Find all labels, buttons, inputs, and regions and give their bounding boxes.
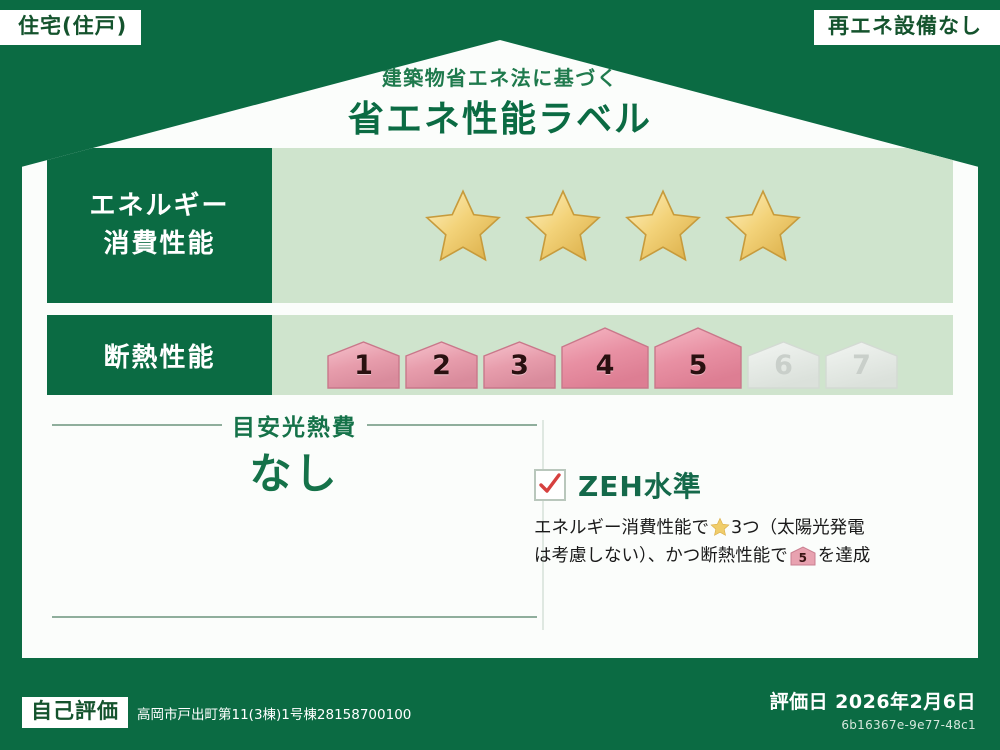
energy-performance-label: エネルギー 消費性能 <box>47 148 272 303</box>
label-card: 建築物省エネ法に基づく 省エネ性能ラベル エネルギー 消費性能 断熱性能 123… <box>22 40 978 658</box>
insulation-grade-7: 7 <box>825 341 898 389</box>
zeh-desc-part3: を達成 <box>818 546 871 566</box>
grade-number: 6 <box>747 350 820 381</box>
evaluation-id: 6b16367e-9e77-48c1 <box>770 718 976 732</box>
utility-cost-value: なし <box>52 440 537 501</box>
zeh-section: ZEH水準 エネルギー消費性能で 3つ（太陽光発電 は考慮しない）、かつ断熱性能… <box>534 465 954 571</box>
insulation-grade-1: 1 <box>327 341 400 389</box>
insulation-performance-value: 1234567 <box>272 315 953 395</box>
utility-cost-bottom-rule <box>52 616 537 618</box>
house-grade-icon: 5 <box>790 546 816 566</box>
insulation-grade-scale: 1234567 <box>327 315 898 395</box>
self-evaluation-block: 自己評価 高岡市戸出町第11(3棟)1号棟28158700100 <box>22 697 411 728</box>
grade-number: 4 <box>561 350 649 381</box>
energy-label-line1: エネルギー <box>89 188 229 226</box>
zeh-description: エネルギー消費性能で 3つ（太陽光発電 は考慮しない）、かつ断熱性能で 5 を達… <box>534 514 954 571</box>
house-grade-number: 5 <box>790 549 816 566</box>
insulation-performance-row: 断熱性能 1234567 <box>47 315 953 395</box>
tag-building-type: 住宅(住戸) <box>0 10 141 45</box>
zeh-checkbox[interactable] <box>534 469 566 501</box>
star-icon <box>724 187 802 265</box>
insulation-grade-2: 2 <box>405 341 478 389</box>
insulation-grade-5: 5 <box>654 327 742 389</box>
zeh-header: ZEH水準 <box>534 465 954 505</box>
insulation-grade-6: 6 <box>747 341 820 389</box>
zeh-desc-part1: エネルギー消費性能で <box>534 518 709 538</box>
star-icon <box>624 187 702 265</box>
grade-number: 2 <box>405 350 478 381</box>
footer: 自己評価 高岡市戸出町第11(3棟)1号棟28158700100 評価日 202… <box>0 658 1000 750</box>
grade-number: 1 <box>327 350 400 381</box>
grade-number: 3 <box>483 350 556 381</box>
utility-cost-title: 目安光熱費 <box>232 408 357 442</box>
check-icon <box>538 472 562 496</box>
energy-performance-row: エネルギー 消費性能 <box>47 148 953 303</box>
energy-performance-value <box>272 148 953 303</box>
grade-number: 7 <box>825 350 898 381</box>
zeh-desc-stars: 3つ（太陽光発電 <box>731 518 865 538</box>
evaluation-date: 評価日 2026年2月6日 <box>770 687 976 714</box>
evaluation-date-block: 評価日 2026年2月6日 6b16367e-9e77-48c1 <box>770 687 976 732</box>
grade-number: 5 <box>654 350 742 381</box>
star-icon <box>710 517 730 537</box>
self-evaluation-badge: 自己評価 <box>22 697 128 728</box>
star-icon <box>424 187 502 265</box>
star-rating <box>424 187 802 265</box>
insulation-grade-4: 4 <box>561 327 649 389</box>
title-subtitle: 建築物省エネ法に基づく <box>22 62 978 91</box>
property-address: 高岡市戸出町第11(3棟)1号棟28158700100 <box>137 703 411 723</box>
energy-label-line2: 消費性能 <box>103 226 215 264</box>
divider-right <box>367 424 537 426</box>
utility-cost-heading: 目安光熱費 <box>52 408 537 442</box>
divider-left <box>52 424 222 426</box>
page-title: 省エネ性能ラベル <box>22 90 978 142</box>
insulation-performance-label: 断熱性能 <box>47 315 272 395</box>
insulation-label-text: 断熱性能 <box>103 337 215 374</box>
star-icon <box>524 187 602 265</box>
tag-renewable-equipment: 再エネ設備なし <box>814 10 1000 45</box>
insulation-grade-3: 3 <box>483 341 556 389</box>
zeh-title: ZEH水準 <box>578 465 702 505</box>
zeh-desc-part2: は考慮しない）、かつ断熱性能で <box>534 546 788 566</box>
